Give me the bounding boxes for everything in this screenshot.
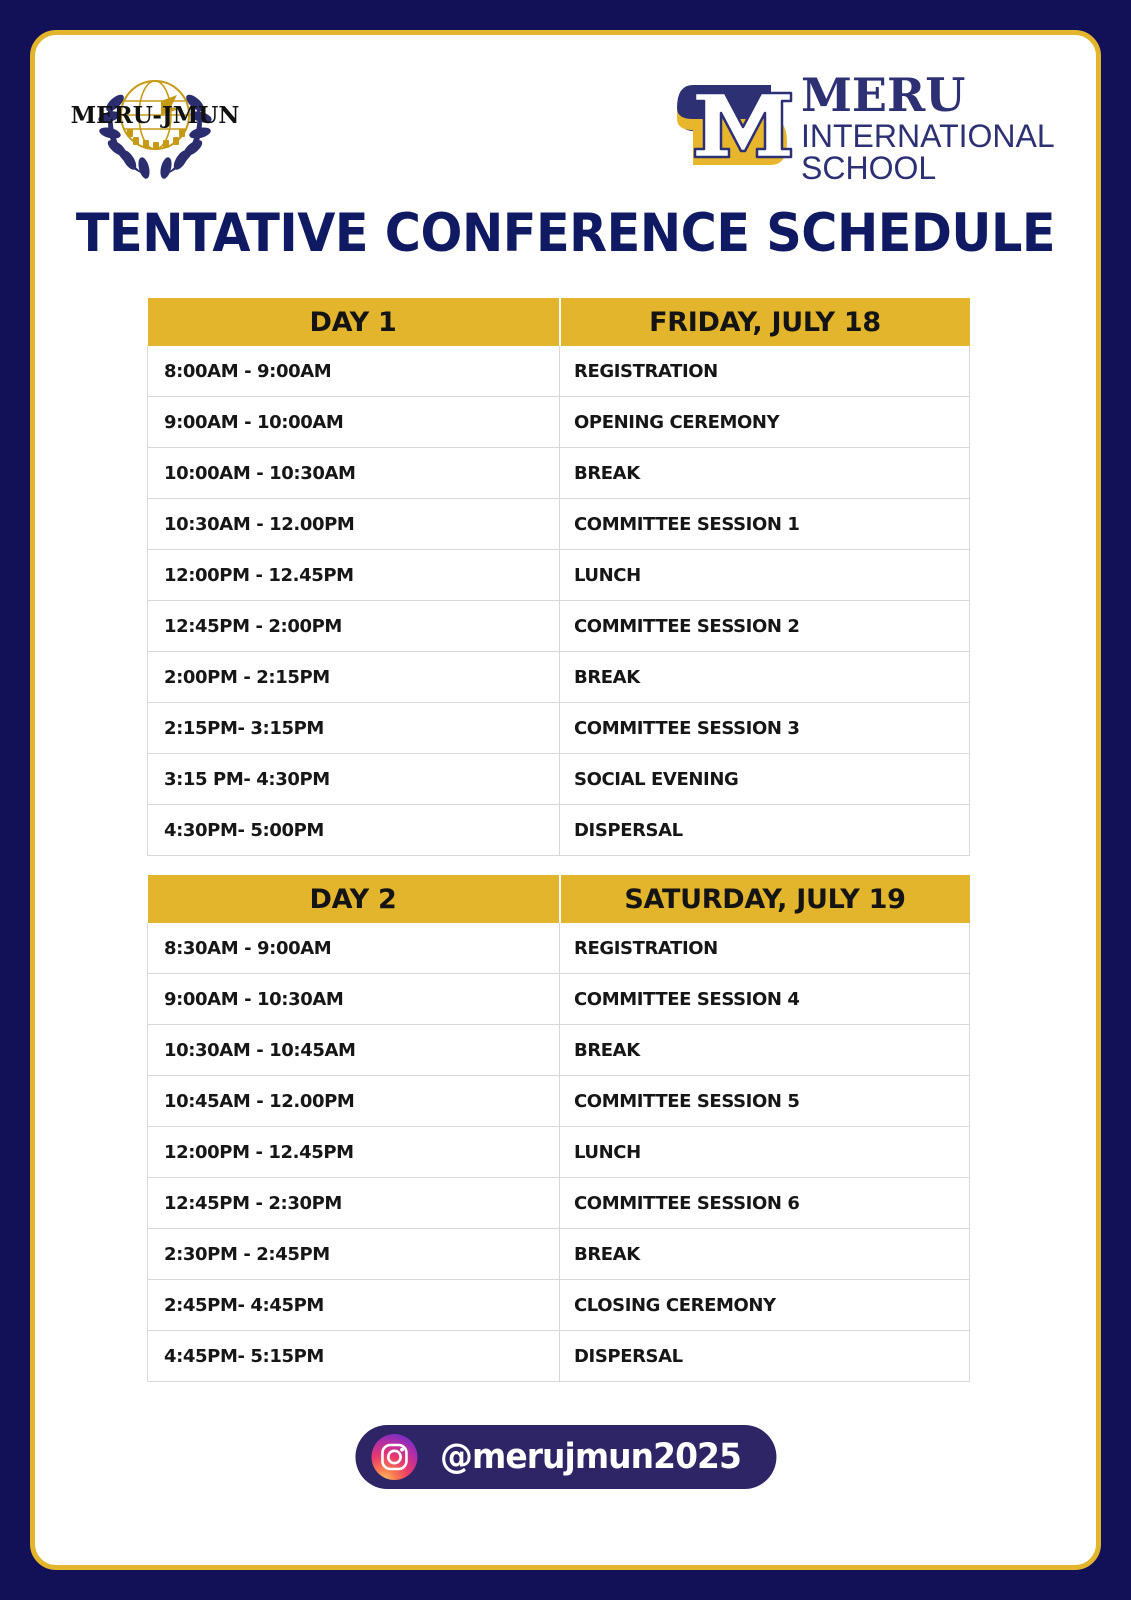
cell-time: 9:00AM - 10:00AM (148, 397, 560, 448)
cell-activity: COMMITTEE SESSION 5 (560, 1076, 970, 1127)
cell-time: 2:30PM - 2:45PM (148, 1229, 560, 1280)
cell-activity: COMMITTEE SESSION 1 (560, 499, 970, 550)
table-row: 4:30PM- 5:00PM DISPERSAL (148, 805, 970, 856)
cell-activity: DISPERSAL (560, 805, 970, 856)
cell-time: 12:00PM - 12.45PM (148, 550, 560, 601)
table-row: 12:00PM - 12.45PM LUNCH (148, 550, 970, 601)
cell-time: 12:00PM - 12.45PM (148, 1127, 560, 1178)
table-row: 12:45PM - 2:30PM COMMITTEE SESSION 6 (148, 1178, 970, 1229)
table-row: 8:30AM - 9:00AM REGISTRATION (148, 923, 970, 974)
merujmun-crest-logo: MERU-JMUN (65, 57, 245, 182)
cell-activity: OPENING CEREMONY (560, 397, 970, 448)
poster-card: MERU-JMUN MERU INTERNATIONAL SCHOOL TENT… (30, 30, 1101, 1570)
table-row: 2:45PM- 4:45PM CLOSING CEREMONY (148, 1280, 970, 1331)
cell-activity: COMMITTEE SESSION 6 (560, 1178, 970, 1229)
cell-activity: LUNCH (560, 1127, 970, 1178)
cell-activity: BREAK (560, 652, 970, 703)
table-row: 12:45PM - 2:00PM COMMITTEE SESSION 2 (148, 601, 970, 652)
crest-wordmark: MERU-JMUN (71, 102, 240, 129)
day2-header-day: DAY 2 (148, 875, 560, 923)
day1-header-date: FRIDAY, JULY 18 (560, 298, 970, 346)
table-row: 3:15 PM- 4:30PM SOCIAL EVENING (148, 754, 970, 805)
instagram-handle: @merujmun2025 (440, 1437, 741, 1477)
cell-activity: BREAK (560, 448, 970, 499)
day2-header-date: SATURDAY, JULY 19 (560, 875, 970, 923)
cell-activity: COMMITTEE SESSION 4 (560, 974, 970, 1025)
cell-activity: REGISTRATION (560, 346, 970, 397)
day1-header-day: DAY 1 (148, 298, 560, 346)
cell-time: 2:15PM- 3:15PM (148, 703, 560, 754)
cell-activity: COMMITTEE SESSION 2 (560, 601, 970, 652)
cell-activity: SOCIAL EVENING (560, 754, 970, 805)
table-row: 2:00PM - 2:15PM BREAK (148, 652, 970, 703)
cell-time: 10:00AM - 10:30AM (148, 448, 560, 499)
cell-time: 2:00PM - 2:15PM (148, 652, 560, 703)
school-name-international: INTERNATIONAL (801, 118, 1055, 154)
day2-schedule-table: DAY 2 SATURDAY, JULY 19 8:30AM - 9:00AM … (147, 875, 970, 1382)
cell-activity: BREAK (560, 1025, 970, 1076)
school-name-school: SCHOOL (801, 150, 936, 186)
cell-time: 8:00AM - 9:00AM (148, 346, 560, 397)
table-row: 8:00AM - 9:00AM REGISTRATION (148, 346, 970, 397)
table-header-row: DAY 2 SATURDAY, JULY 19 (148, 875, 970, 923)
table-row: 10:45AM - 12.00PM COMMITTEE SESSION 5 (148, 1076, 970, 1127)
cell-time: 2:45PM- 4:45PM (148, 1280, 560, 1331)
day1-schedule-table: DAY 1 FRIDAY, JULY 18 8:00AM - 9:00AM RE… (147, 298, 970, 856)
cell-activity: COMMITTEE SESSION 3 (560, 703, 970, 754)
table-row: 2:30PM - 2:45PM BREAK (148, 1229, 970, 1280)
table-row: 9:00AM - 10:00AM OPENING CEREMONY (148, 397, 970, 448)
meru-international-school-logo: MERU INTERNATIONAL SCHOOL (675, 63, 1065, 188)
cell-activity: DISPERSAL (560, 1331, 970, 1382)
cell-time: 12:45PM - 2:00PM (148, 601, 560, 652)
table-header-row: DAY 1 FRIDAY, JULY 18 (148, 298, 970, 346)
cell-activity: REGISTRATION (560, 923, 970, 974)
cell-time: 12:45PM - 2:30PM (148, 1178, 560, 1229)
school-name-meru: MERU (801, 68, 965, 122)
cell-activity: BREAK (560, 1229, 970, 1280)
cell-time: 9:00AM - 10:30AM (148, 974, 560, 1025)
instagram-icon (371, 1434, 417, 1480)
school-logo-monogram-mark (677, 85, 791, 165)
instagram-badge[interactable]: @merujmun2025 (355, 1425, 776, 1489)
cell-time: 10:45AM - 12.00PM (148, 1076, 560, 1127)
table-row: 4:45PM- 5:15PM DISPERSAL (148, 1331, 970, 1382)
cell-time: 8:30AM - 9:00AM (148, 923, 560, 974)
cell-time: 3:15 PM- 4:30PM (148, 754, 560, 805)
table-row: 9:00AM - 10:30AM COMMITTEE SESSION 4 (148, 974, 970, 1025)
table-row: 2:15PM- 3:15PM COMMITTEE SESSION 3 (148, 703, 970, 754)
cell-time: 10:30AM - 12.00PM (148, 499, 560, 550)
cell-time: 4:45PM- 5:15PM (148, 1331, 560, 1382)
table-row: 10:30AM - 10:45AM BREAK (148, 1025, 970, 1076)
cell-time: 10:30AM - 10:45AM (148, 1025, 560, 1076)
cell-activity: LUNCH (560, 550, 970, 601)
page-title: TENTATIVE CONFERENCE SCHEDULE (72, 203, 1059, 264)
table-row: 12:00PM - 12.45PM LUNCH (148, 1127, 970, 1178)
cell-activity: CLOSING CEREMONY (560, 1280, 970, 1331)
table-row: 10:30AM - 12.00PM COMMITTEE SESSION 1 (148, 499, 970, 550)
table-row: 10:00AM - 10:30AM BREAK (148, 448, 970, 499)
cell-time: 4:30PM- 5:00PM (148, 805, 560, 856)
